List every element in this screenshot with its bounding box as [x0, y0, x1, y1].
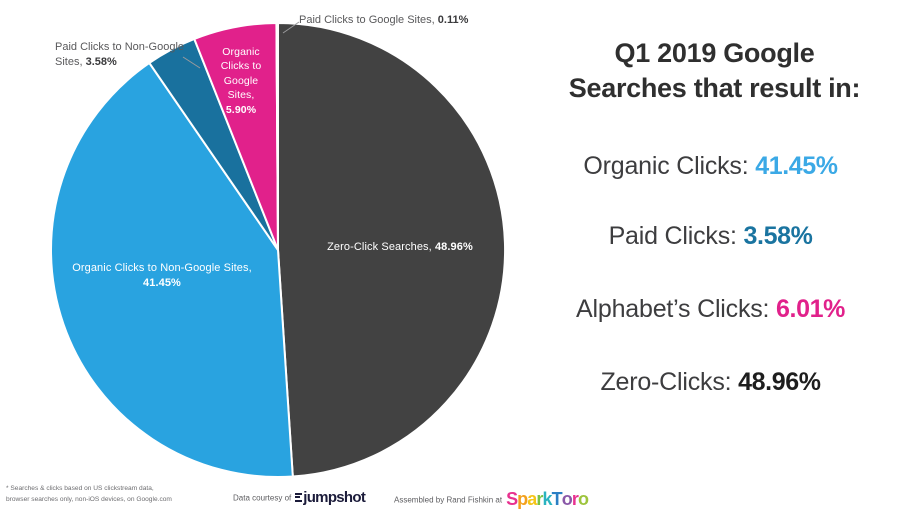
footnote: * Searches & clicks based on US clickstr… — [6, 484, 231, 505]
summary-panel: Q1 2019 Google Searches that result in: … — [520, 0, 909, 480]
pie-chart-panel: Zero-Click Searches, 48.96% Organic Clic… — [0, 0, 520, 480]
callout-paid-clicks-non-google-name: Paid Clicks to Non-Google Sites, — [55, 41, 184, 68]
sparktoro-letter: o — [562, 489, 572, 510]
summary-row-alphabet-clicks-value: 6.01% — [776, 295, 845, 323]
footer: * Searches & clicks based on US clickstr… — [0, 480, 909, 514]
slice-label-organic-non-google: Organic Clicks to Non-Google Sites, 41.4… — [58, 261, 266, 290]
page-title-line-2: Searches that result in: — [520, 71, 909, 106]
slice-label-organic-google: Organic Clicks to Google Sites, 5.90% — [212, 45, 270, 117]
callout-paid-clicks-google-value: 0.11% — [438, 14, 469, 26]
summary-row-paid-clicks-value: 3.58% — [744, 222, 813, 250]
data-courtesy-credit: Data courtesy ofjumpshot — [233, 490, 365, 507]
summary-row-organic-clicks-value: 41.45% — [755, 152, 837, 180]
sparktoro-letter: k — [543, 489, 552, 510]
slice-label-organic-google-name: Organic Clicks to Google Sites, — [221, 46, 262, 101]
sparktoro-letter: T — [552, 489, 562, 510]
summary-row-paid-clicks-label: Paid Clicks: — [609, 222, 744, 250]
callout-paid-clicks-non-google-value: 3.58% — [86, 56, 117, 68]
summary-row-zero-clicks-label: Zero-Clicks: — [600, 368, 738, 396]
page-title-line-1: Q1 2019 Google — [520, 36, 909, 71]
sparktoro-logo: SparkToro — [506, 489, 588, 510]
infographic-root: Zero-Click Searches, 48.96% Organic Clic… — [0, 0, 909, 514]
data-courtesy-label: Data courtesy of — [233, 494, 291, 503]
summary-row-paid-clicks: Paid Clicks: 3.58% — [520, 222, 901, 251]
sparktoro-letter: S — [506, 489, 517, 510]
summary-row-organic-clicks-label: Organic Clicks: — [583, 152, 755, 180]
page-title: Q1 2019 Google Searches that result in: — [520, 36, 909, 105]
callout-paid-clicks-non-google: Paid Clicks to Non-Google Sites, 3.58% — [55, 40, 185, 70]
callout-paid-clicks-google: Paid Clicks to Google Sites, 0.11% — [299, 13, 529, 28]
summary-row-zero-clicks-value: 48.96% — [738, 368, 820, 396]
sparktoro-letter: p — [517, 489, 527, 510]
sparktoro-letter: o — [578, 489, 588, 510]
footnote-line-2: browser searches only, non-iOS devices, … — [6, 495, 231, 506]
assembled-by-credit: Assembled by Rand Fishkin atSparkToro — [394, 490, 588, 511]
slice-label-zero-click: Zero-Click Searches, 48.96% — [300, 240, 500, 255]
sparktoro-letter: a — [527, 489, 536, 510]
slice-label-organic-google-value: 5.90% — [226, 104, 256, 116]
assembled-by-label: Assembled by Rand Fishkin at — [394, 496, 502, 505]
jumpshot-bars-icon — [295, 493, 302, 504]
jumpshot-logo: jumpshot — [295, 489, 365, 506]
summary-row-alphabet-clicks: Alphabet’s Clicks: 6.01% — [520, 295, 901, 324]
slice-label-zero-click-name: Zero-Click Searches, — [327, 241, 435, 253]
slice-label-organic-non-google-value: 41.45% — [143, 277, 181, 289]
slice-label-zero-click-value: 48.96% — [435, 241, 473, 253]
footnote-line-1: * Searches & clicks based on US clickstr… — [6, 484, 231, 495]
summary-row-alphabet-clicks-label: Alphabet’s Clicks: — [576, 295, 776, 323]
jumpshot-logo-text: jumpshot — [303, 489, 365, 506]
slice-label-organic-non-google-name: Organic Clicks to Non-Google Sites, — [72, 262, 252, 274]
summary-row-organic-clicks: Organic Clicks: 41.45% — [520, 152, 901, 181]
summary-row-zero-clicks: Zero-Clicks: 48.96% — [520, 368, 901, 397]
callout-paid-clicks-google-name: Paid Clicks to Google Sites, — [299, 14, 438, 26]
